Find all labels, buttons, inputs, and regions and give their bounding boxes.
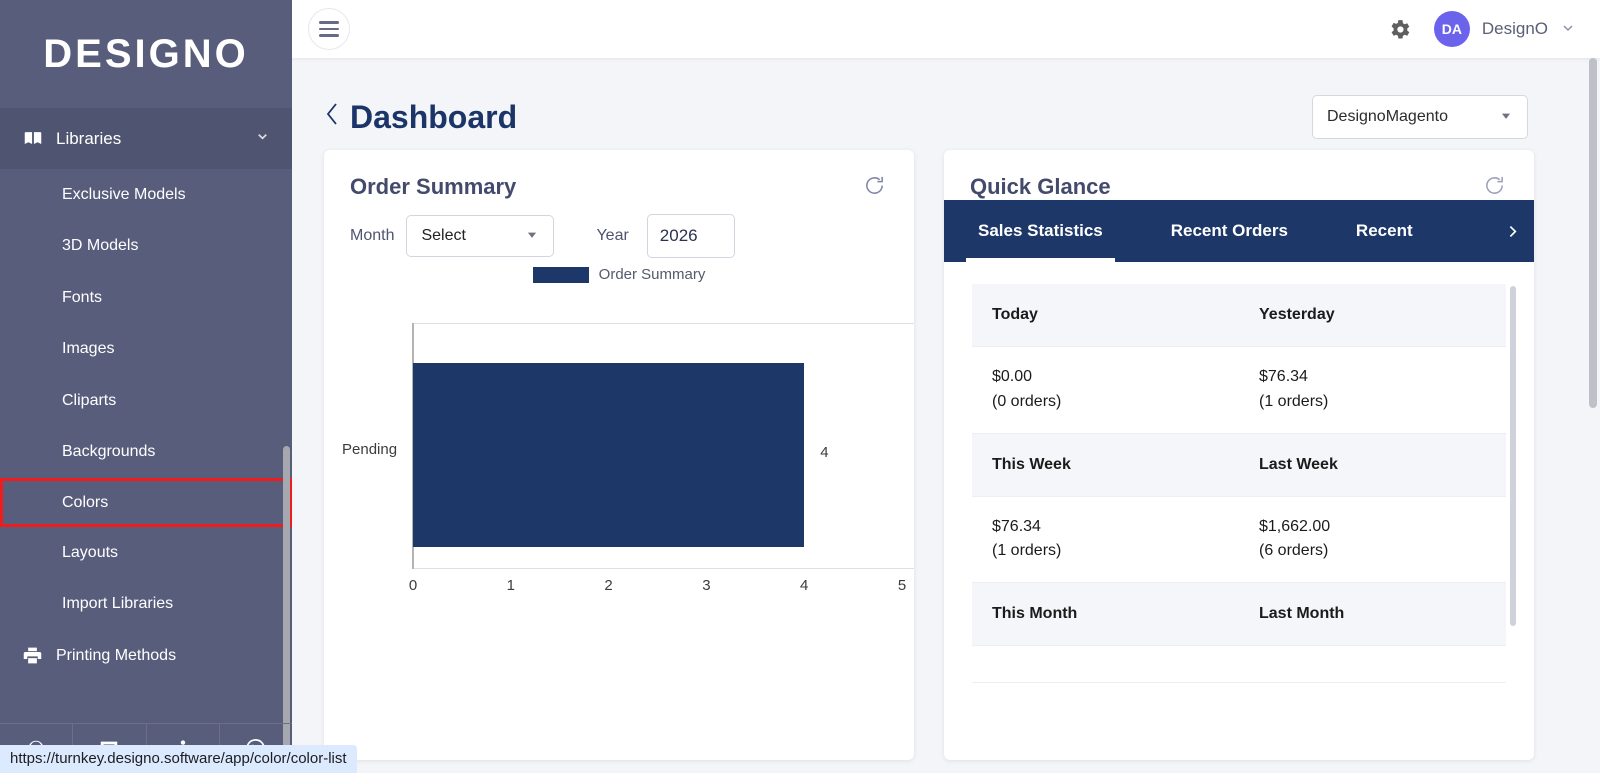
quick-glance-header: Quick Glance — [944, 150, 1534, 200]
sales-statistics-table: Today Yesterday $0.00(0 orders) $76.34(1… — [944, 262, 1534, 722]
sidebar-item-images[interactable]: Images — [0, 324, 292, 376]
gear-icon[interactable] — [1387, 17, 1412, 42]
sidebar-item-fonts[interactable]: Fonts — [0, 272, 292, 324]
status-bar-url: https://turnkey.designo.software/app/col… — [0, 745, 357, 773]
sidebar-item-layouts[interactable]: Layouts — [0, 527, 292, 579]
book-icon — [22, 128, 56, 150]
sidebar-item-label: Import Libraries — [62, 595, 173, 613]
order-summary-header: Order Summary — [324, 150, 914, 200]
quick-glance-scrollbar[interactable] — [1510, 286, 1516, 626]
chevron-down-icon — [255, 129, 270, 148]
chart-top-rule — [412, 323, 914, 324]
column-header: This Week — [972, 434, 1239, 496]
sidebar-item-printing-methods[interactable]: Printing Methods — [0, 630, 292, 682]
avatar: DA — [1434, 11, 1470, 47]
table-row: $0.00(0 orders) $76.34(1 orders) — [972, 346, 1506, 434]
refresh-icon[interactable] — [1483, 174, 1506, 197]
card-title: Quick Glance — [970, 174, 1111, 200]
sidebar-item-label: Cliparts — [62, 392, 116, 410]
tab-label: Recent C — [1356, 221, 1414, 241]
table-row: This Week Last Week — [972, 434, 1506, 496]
table-cell: $76.34(1 orders) — [972, 497, 1239, 583]
chart-x-tick: 4 — [800, 577, 808, 594]
sidebar-item-backgrounds[interactable]: Backgrounds — [0, 427, 292, 479]
table-row: $76.34(1 orders) $1,662.00(6 orders) — [972, 496, 1506, 584]
tab-label: Recent Orders — [1171, 221, 1288, 241]
sidebar-group-libraries[interactable]: Libraries — [0, 108, 292, 169]
chart-category-label: Pending — [342, 441, 397, 458]
column-header: Last Month — [1239, 583, 1506, 645]
sidebar-item-label: Images — [62, 340, 114, 358]
printer-icon — [22, 645, 56, 666]
sidebar-item-label: 3D Models — [62, 237, 138, 255]
order-summary-card: Order Summary Month Select — [324, 150, 914, 760]
chart-x-tick: 3 — [702, 577, 710, 594]
chart-bottom-rule — [412, 568, 914, 569]
legend-swatch — [533, 267, 589, 283]
year-input-value: 2026 — [660, 226, 698, 246]
month-select-value: Select — [421, 227, 465, 245]
topbar-right: DA DesignO — [1387, 11, 1576, 47]
table-cell: $1,662.00(6 orders) — [1239, 497, 1506, 583]
store-select-value: DesignoMagento — [1327, 108, 1448, 126]
app-root: DESIGNO Libraries Exclusive Models 3D Mo… — [0, 0, 1600, 773]
tab-recent-customers[interactable]: Recent C — [1322, 200, 1414, 262]
user-menu[interactable]: DA DesignO — [1434, 11, 1576, 47]
chart-bar — [413, 363, 804, 547]
chevron-left-icon[interactable] — [324, 101, 340, 134]
sidebar-item-label: Printing Methods — [56, 647, 176, 665]
card-title: Order Summary — [350, 174, 516, 200]
month-label: Month — [350, 227, 394, 245]
brand-logo[interactable]: DESIGNO — [0, 0, 292, 108]
year-label: Year — [596, 227, 628, 245]
legend-label: Order Summary — [599, 266, 706, 283]
sidebar-item-label: Exclusive Models — [62, 186, 186, 204]
table-row: This Month Last Month — [972, 583, 1506, 645]
chart-x-tick: 1 — [507, 577, 515, 594]
column-header: Today — [972, 284, 1239, 346]
top-bar: DA DesignO — [292, 0, 1600, 58]
page-header: Dashboard DesignoMagento — [292, 58, 1600, 150]
table-cell — [1239, 646, 1506, 682]
store-select[interactable]: DesignoMagento — [1312, 95, 1528, 139]
chevron-down-icon — [1499, 109, 1513, 126]
tab-sales-statistics[interactable]: Sales Statistics — [944, 200, 1137, 262]
sidebar-item-3d-models[interactable]: 3D Models — [0, 221, 292, 273]
sidebar-item-exclusive-models[interactable]: Exclusive Models — [0, 169, 292, 221]
sidebar-item-label: Backgrounds — [62, 443, 155, 461]
refresh-icon[interactable] — [863, 174, 886, 197]
chart-legend: Order Summary — [324, 266, 914, 283]
chart-x-tick: 2 — [604, 577, 612, 594]
chevron-right-icon[interactable] — [1490, 200, 1534, 262]
tab-recent-orders[interactable]: Recent Orders — [1137, 200, 1322, 262]
quick-glance-card: Quick Glance Sales Statistics Recent Ord… — [944, 150, 1534, 760]
table-cell: $0.00(0 orders) — [972, 347, 1239, 433]
chevron-down-icon — [1560, 20, 1576, 39]
month-select[interactable]: Select — [406, 215, 554, 257]
sidebar-group-label: Libraries — [56, 129, 255, 149]
chart-plot-area: Pending 4 012345 — [324, 301, 914, 591]
table-row — [972, 645, 1506, 683]
chevron-down-icon — [525, 228, 539, 245]
page-title: Dashboard — [350, 99, 517, 136]
column-header: Last Week — [1239, 434, 1506, 496]
sidebar: DESIGNO Libraries Exclusive Models 3D Mo… — [0, 0, 292, 773]
chart-bar-value: 4 — [820, 444, 828, 461]
sidebar-item-colors[interactable]: Colors — [0, 478, 292, 527]
sidebar-item-label: Layouts — [62, 544, 118, 562]
year-input[interactable]: 2026 — [647, 214, 735, 258]
order-summary-filters: Month Select Year 2026 — [324, 200, 914, 258]
sidebar-item-import-libraries[interactable]: Import Libraries — [0, 579, 292, 631]
main-content: DA DesignO Dashboard DesignoMagento — [292, 0, 1600, 773]
hamburger-icon[interactable] — [308, 8, 350, 50]
chart-x-tick: 0 — [409, 577, 417, 594]
user-name: DesignO — [1482, 19, 1548, 39]
table-cell — [972, 646, 1239, 682]
sidebar-nav: Libraries Exclusive Models 3D Models Fon… — [0, 108, 292, 773]
tab-label: Sales Statistics — [978, 221, 1103, 241]
dashboard-cards: Order Summary Month Select — [292, 150, 1600, 760]
column-header: This Month — [972, 583, 1239, 645]
column-header: Yesterday — [1239, 284, 1506, 346]
sidebar-item-label: Fonts — [62, 289, 102, 307]
chart-x-tick: 5 — [898, 577, 906, 594]
table-cell: $76.34(1 orders) — [1239, 347, 1506, 433]
sidebar-item-label: Colors — [62, 494, 108, 512]
sidebar-item-cliparts[interactable]: Cliparts — [0, 375, 292, 427]
order-summary-chart: Order Summary Pending 4 012345 — [324, 266, 914, 666]
table-row: Today Yesterday — [972, 284, 1506, 346]
chart-x-ticks: 012345 — [324, 577, 914, 597]
quick-glance-tabs: Sales Statistics Recent Orders Recent C — [944, 200, 1534, 262]
page-scrollbar[interactable] — [1589, 58, 1597, 408]
